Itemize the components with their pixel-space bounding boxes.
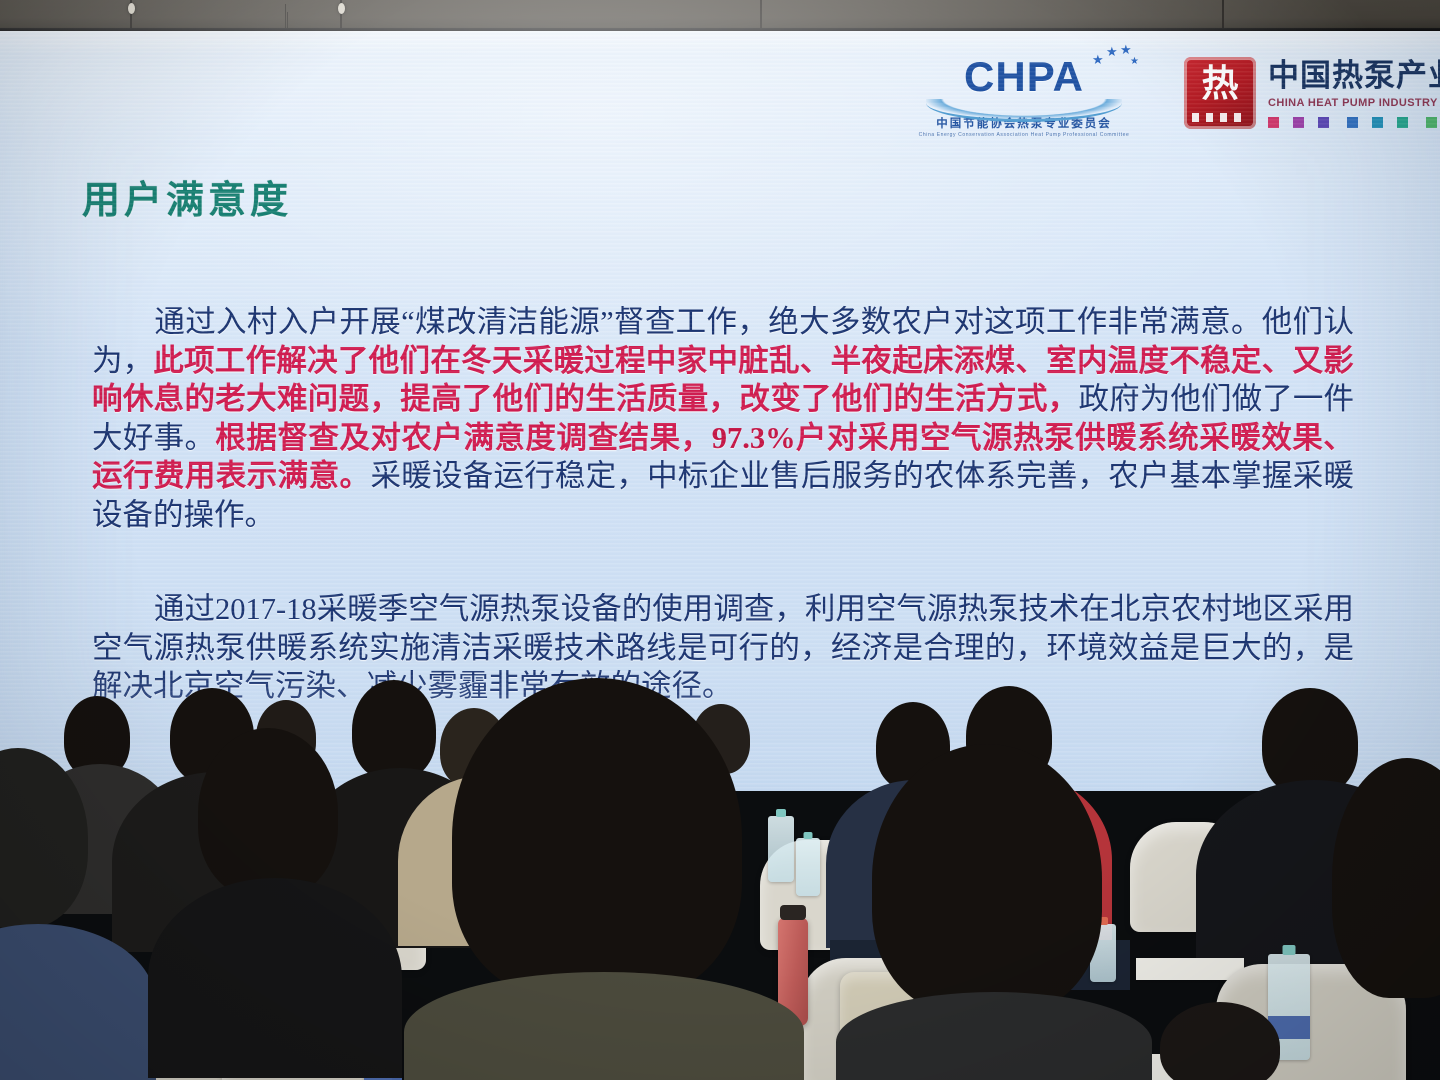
audience-head [872, 744, 1102, 1014]
chpa-wordmark: CHPA [964, 55, 1084, 99]
audience-shoulders [148, 878, 402, 1078]
screenshot-stage: CHPA ★ ★ ★ ★ 中国节能协会热泵专业委员会 China Energy … [0, 0, 1440, 1080]
water-bottle [796, 838, 820, 896]
alliance-chinese-name: 中国热泵产业联 [1268, 59, 1440, 93]
alliance-logo: 热 中国热泵产业联 CHINA HEAT PUMP INDUSTRY ALL [1184, 53, 1440, 137]
chpa-logo: CHPA ★ ★ ★ ★ 中国节能协会热泵专业委员会 China Energy … [918, 55, 1130, 135]
audience-head [452, 678, 742, 998]
paper-handout [1136, 958, 1244, 980]
alliance-mark-icon: 热 [1184, 57, 1256, 129]
p1-seg4-highlight: 根据督查及对农户满意度调查结果， [215, 421, 711, 455]
alliance-pixel-strip-icon [1192, 113, 1248, 122]
satisfaction-statistic: 97.3% [712, 421, 796, 455]
alliance-english-name: CHINA HEAT PUMP INDUSTRY ALL [1268, 97, 1440, 109]
alliance-color-swatches [1268, 115, 1440, 126]
audience-foreground [0, 672, 1440, 1080]
audience-shoulders [836, 992, 1152, 1080]
audience-head [352, 680, 436, 780]
slide-body: 通过入村入户开展“煤改清洁能源”督查工作，绝大多数农户对这项工作非常满意。他们认… [92, 303, 1354, 706]
audience-shoulders [404, 972, 804, 1080]
alliance-glyph: 热 [1192, 63, 1248, 109]
water-bottle [768, 816, 794, 882]
paragraph-1: 通过入村入户开展“煤改清洁能源”督查工作，绝大多数农户对这项工作非常满意。他们认… [92, 303, 1354, 534]
slide-title: 用户满意度 [82, 179, 292, 223]
ceiling-bolt-icon [338, 3, 345, 14]
chpa-english-name: China Energy Conservation Association He… [918, 132, 1130, 138]
ceiling-strip [0, 0, 1440, 32]
chpa-stars-icon: ★ ★ ★ ★ [1086, 43, 1142, 69]
audience-head [198, 728, 338, 898]
logo-row: CHPA ★ ★ ★ ★ 中国节能协会热泵专业委员会 China Energy … [0, 49, 1440, 141]
ceiling-bolt-icon [128, 3, 135, 14]
